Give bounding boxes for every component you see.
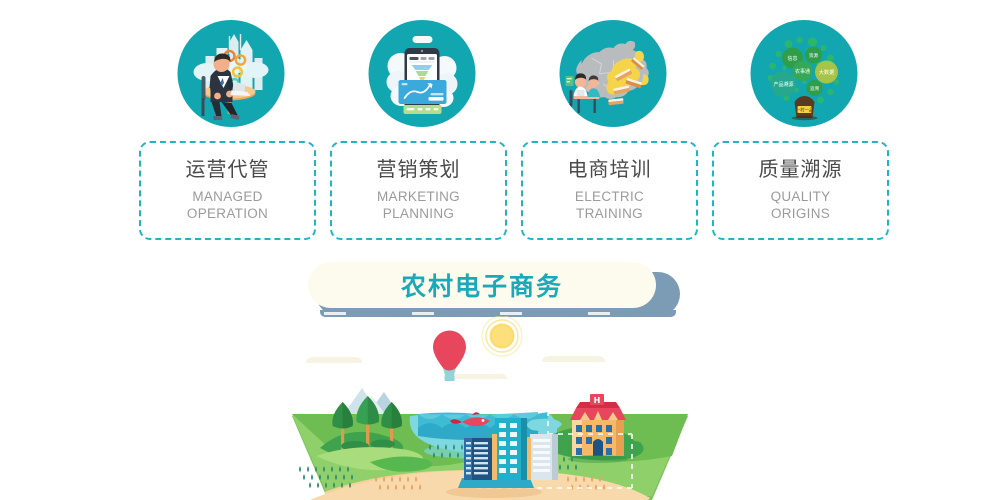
svg-text:信息: 信息 bbox=[787, 55, 797, 62]
smartphone-analytics-icon bbox=[369, 20, 476, 127]
banner-face: 农村电子商务 bbox=[308, 262, 656, 308]
pillar-en-line2-3: TRAINING bbox=[575, 205, 644, 222]
pillar-managed-operation[interactable]: 运营代管 MANAGED OPERATION bbox=[136, 0, 326, 250]
pillar-title-cn-4: 质量溯源 bbox=[759, 159, 843, 181]
pillar-title-en-4: QUALITY ORIGINS bbox=[771, 188, 831, 223]
pillar-label-box-4[interactable]: 质量溯源 QUALITY ORIGINS bbox=[712, 141, 889, 240]
pillar-en-line2-4: ORIGINS bbox=[771, 205, 831, 222]
svg-text:农事通: 农事通 bbox=[795, 68, 810, 75]
pillar-quality-origins[interactable]: 信息 资源 农事通 大数据 产品溯源 追溯 一村一品 质量溯源 bbox=[709, 0, 899, 250]
pillar-title-cn-2: 营销策划 bbox=[377, 159, 461, 181]
pillar-title-en-3: ELECTRIC TRAINING bbox=[575, 188, 644, 223]
pillar-icon-circle-1 bbox=[178, 20, 285, 127]
pillar-en-line1-4: QUALITY bbox=[771, 188, 831, 205]
svg-text:追溯: 追溯 bbox=[810, 85, 819, 92]
pillar-label-box-2[interactable]: 营销策划 MARKETING PLANNING bbox=[330, 141, 507, 240]
svg-text:资源: 资源 bbox=[809, 52, 818, 59]
pillar-title-cn-3: 电商培训 bbox=[568, 159, 652, 181]
pillar-label-box-3[interactable]: 电商培训 ELECTRIC TRAINING bbox=[521, 141, 698, 240]
rural-landscape-illustration: H bbox=[280, 316, 700, 500]
sun-icon bbox=[482, 316, 522, 356]
businessman-at-desk-icon bbox=[178, 20, 285, 127]
pillar-en-line1-2: MARKETING bbox=[377, 188, 460, 205]
pillar-title-en-2: MARKETING PLANNING bbox=[377, 188, 460, 223]
pillar-en-line1-1: MANAGED bbox=[187, 188, 268, 205]
svg-text:一村一品: 一村一品 bbox=[796, 107, 814, 114]
pillar-electric-training[interactable]: 电商培训 ELECTRIC TRAINING bbox=[518, 0, 708, 250]
china-map-training-icon bbox=[560, 20, 667, 127]
pillar-title-en-1: MANAGED OPERATION bbox=[187, 188, 268, 223]
hospital-sign-letter: H bbox=[594, 396, 601, 405]
pillar-en-line2-1: OPERATION bbox=[187, 205, 268, 222]
banner-title: 农村电子商务 bbox=[401, 267, 563, 303]
pillar-label-box-1[interactable]: 运营代管 MANAGED OPERATION bbox=[139, 141, 316, 240]
pillar-en-line1-3: ELECTRIC bbox=[575, 188, 644, 205]
pillars-row: 运营代管 MANAGED OPERATION bbox=[0, 0, 1000, 250]
svg-text:产品溯源: 产品溯源 bbox=[773, 81, 793, 88]
svg-text:大数据: 大数据 bbox=[819, 68, 835, 76]
hot-air-balloon-icon bbox=[433, 331, 466, 382]
center-banner: 农村电子商务 bbox=[300, 262, 680, 320]
pillar-title-cn-1: 运营代管 bbox=[186, 159, 270, 181]
pillar-icon-circle-2 bbox=[369, 20, 476, 127]
infographic-stage: 运营代管 MANAGED OPERATION bbox=[0, 0, 1000, 500]
pillar-icon-circle-3 bbox=[560, 20, 667, 127]
hospital-building-icon: H bbox=[568, 394, 628, 463]
pillar-en-line2-2: PLANNING bbox=[377, 205, 460, 222]
pillar-icon-circle-4: 信息 资源 农事通 大数据 产品溯源 追溯 一村一品 bbox=[751, 20, 858, 127]
tree-icon bbox=[332, 396, 402, 452]
bubble-tree-icon: 信息 资源 农事通 大数据 产品溯源 追溯 一村一品 bbox=[751, 20, 858, 127]
pillar-marketing-planning[interactable]: 营销策划 MARKETING PLANNING bbox=[327, 0, 517, 250]
